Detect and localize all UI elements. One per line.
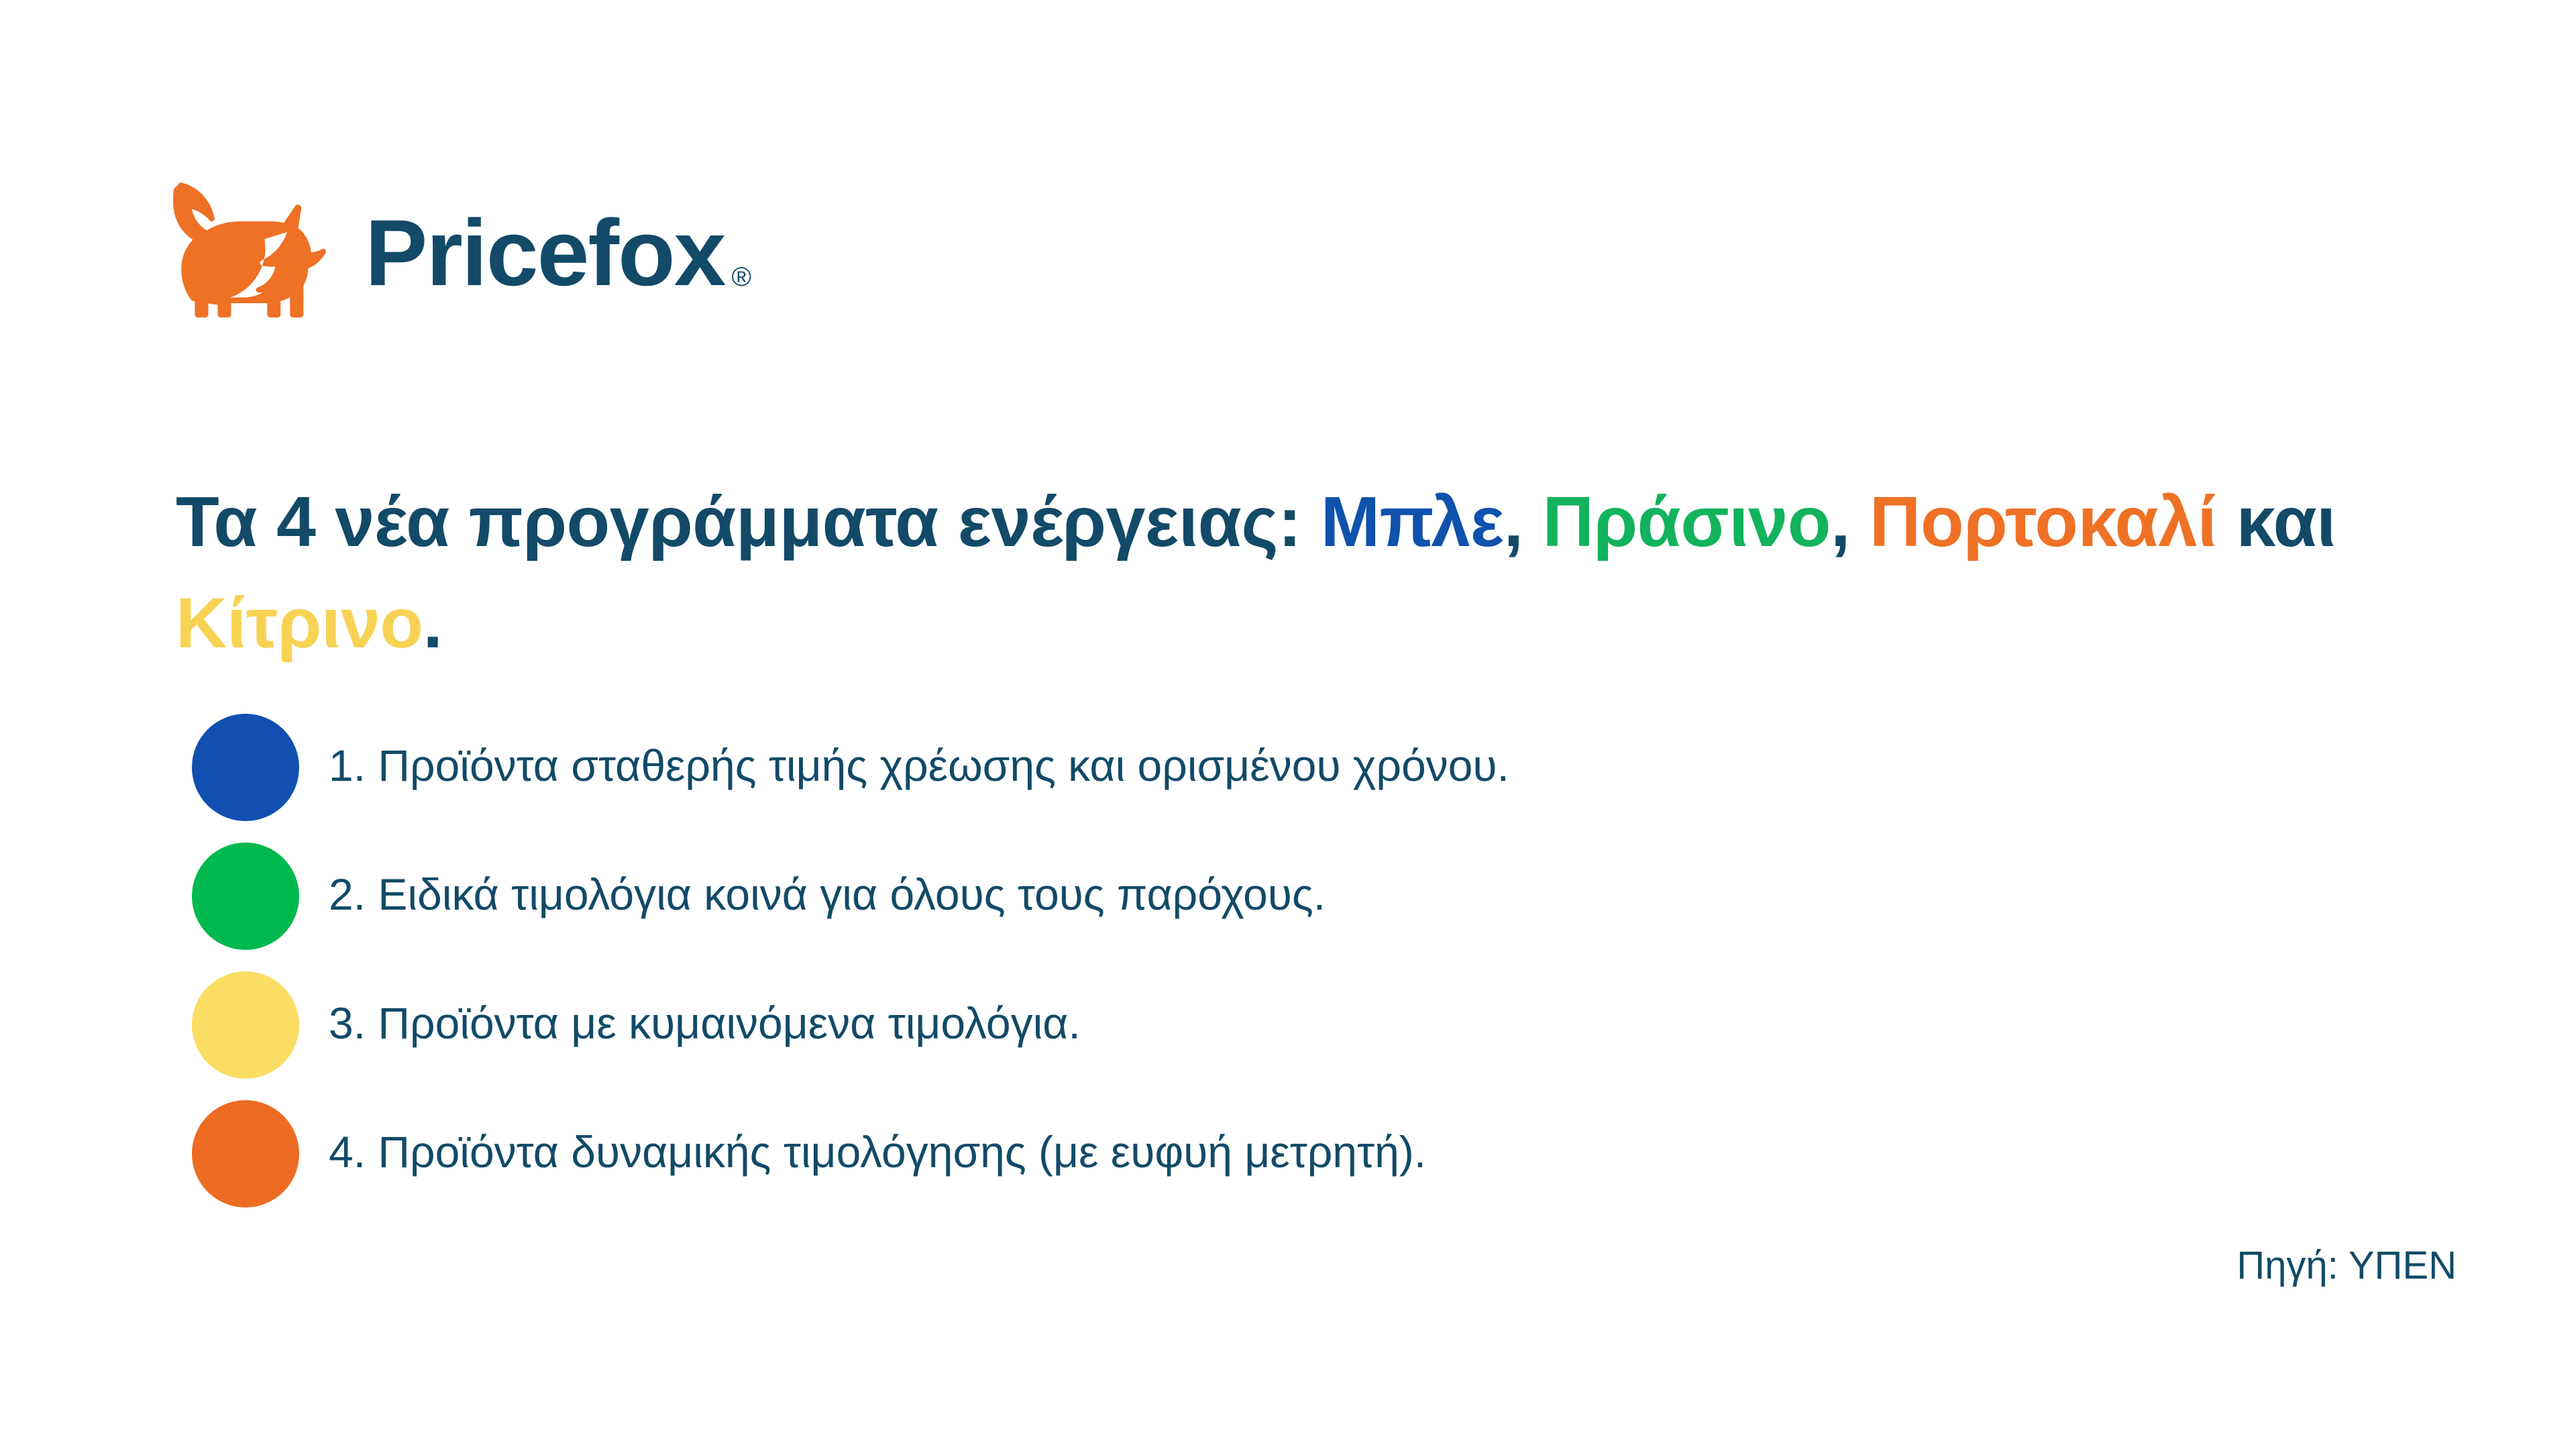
page-title: Τα 4 νέα προγράμματα ενέργειας: Μπλε, Πρ… bbox=[176, 472, 2416, 674]
bullet-dot-yellow bbox=[192, 971, 299, 1079]
list-item: 1. Προϊόντα σταθερής τιμής χρέωσης και ο… bbox=[192, 703, 2406, 832]
list-item-label: 4. Προϊόντα δυναμικής τιμολόγησης (με ευ… bbox=[329, 1126, 1426, 1181]
brand-logo[interactable]: Pricefox ® bbox=[153, 182, 751, 323]
list-item: 3. Προϊόντα με κυμαινόμενα τιμολόγια. bbox=[192, 961, 2406, 1089]
fox-icon bbox=[153, 182, 342, 323]
list-item: 2. Ειδικά τιμολόγια κοινά για όλους τους… bbox=[192, 832, 2406, 961]
headline-period: . bbox=[423, 584, 443, 663]
bullet-dot-blue bbox=[192, 714, 299, 821]
source-attribution: Πηγή: ΥΠΕΝ bbox=[2237, 1246, 2457, 1285]
brand-name: Pricefox bbox=[365, 206, 724, 300]
headline-word-blue: Μπλε bbox=[1321, 482, 1504, 561]
headline-part-lead: Τα 4 νέα προγράμματα ενέργειας: bbox=[176, 482, 1321, 561]
headline-separator-1: , bbox=[1504, 482, 1543, 561]
slide-canvas: Pricefox ® Τα 4 νέα προγράμματα ενέργεια… bbox=[0, 0, 2576, 1449]
list-item-label: 2. Ειδικά τιμολόγια κοινά για όλους τους… bbox=[329, 868, 1326, 924]
headline-conjunction: και bbox=[2216, 482, 2336, 561]
headline-word-yellow: Κίτρινο bbox=[176, 584, 423, 663]
headline-word-orange: Πορτοκαλί bbox=[1870, 482, 2217, 561]
list-item-label: 3. Προϊόντα με κυμαινόμενα τιμολόγια. bbox=[329, 997, 1081, 1053]
registered-trademark-icon: ® bbox=[731, 264, 751, 300]
list-item-label: 1. Προϊόντα σταθερής τιμής χρέωσης και ο… bbox=[329, 739, 1509, 795]
brand-wordmark: Pricefox ® bbox=[365, 206, 751, 300]
headline-separator-2: , bbox=[1831, 482, 1870, 561]
program-list: 1. Προϊόντα σταθερής τιμής χρέωσης και ο… bbox=[192, 703, 2406, 1218]
headline-word-green: Πράσινο bbox=[1542, 482, 1830, 561]
list-item: 4. Προϊόντα δυναμικής τιμολόγησης (με ευ… bbox=[192, 1089, 2406, 1218]
bullet-dot-orange bbox=[192, 1100, 299, 1207]
bullet-dot-green bbox=[192, 843, 299, 950]
